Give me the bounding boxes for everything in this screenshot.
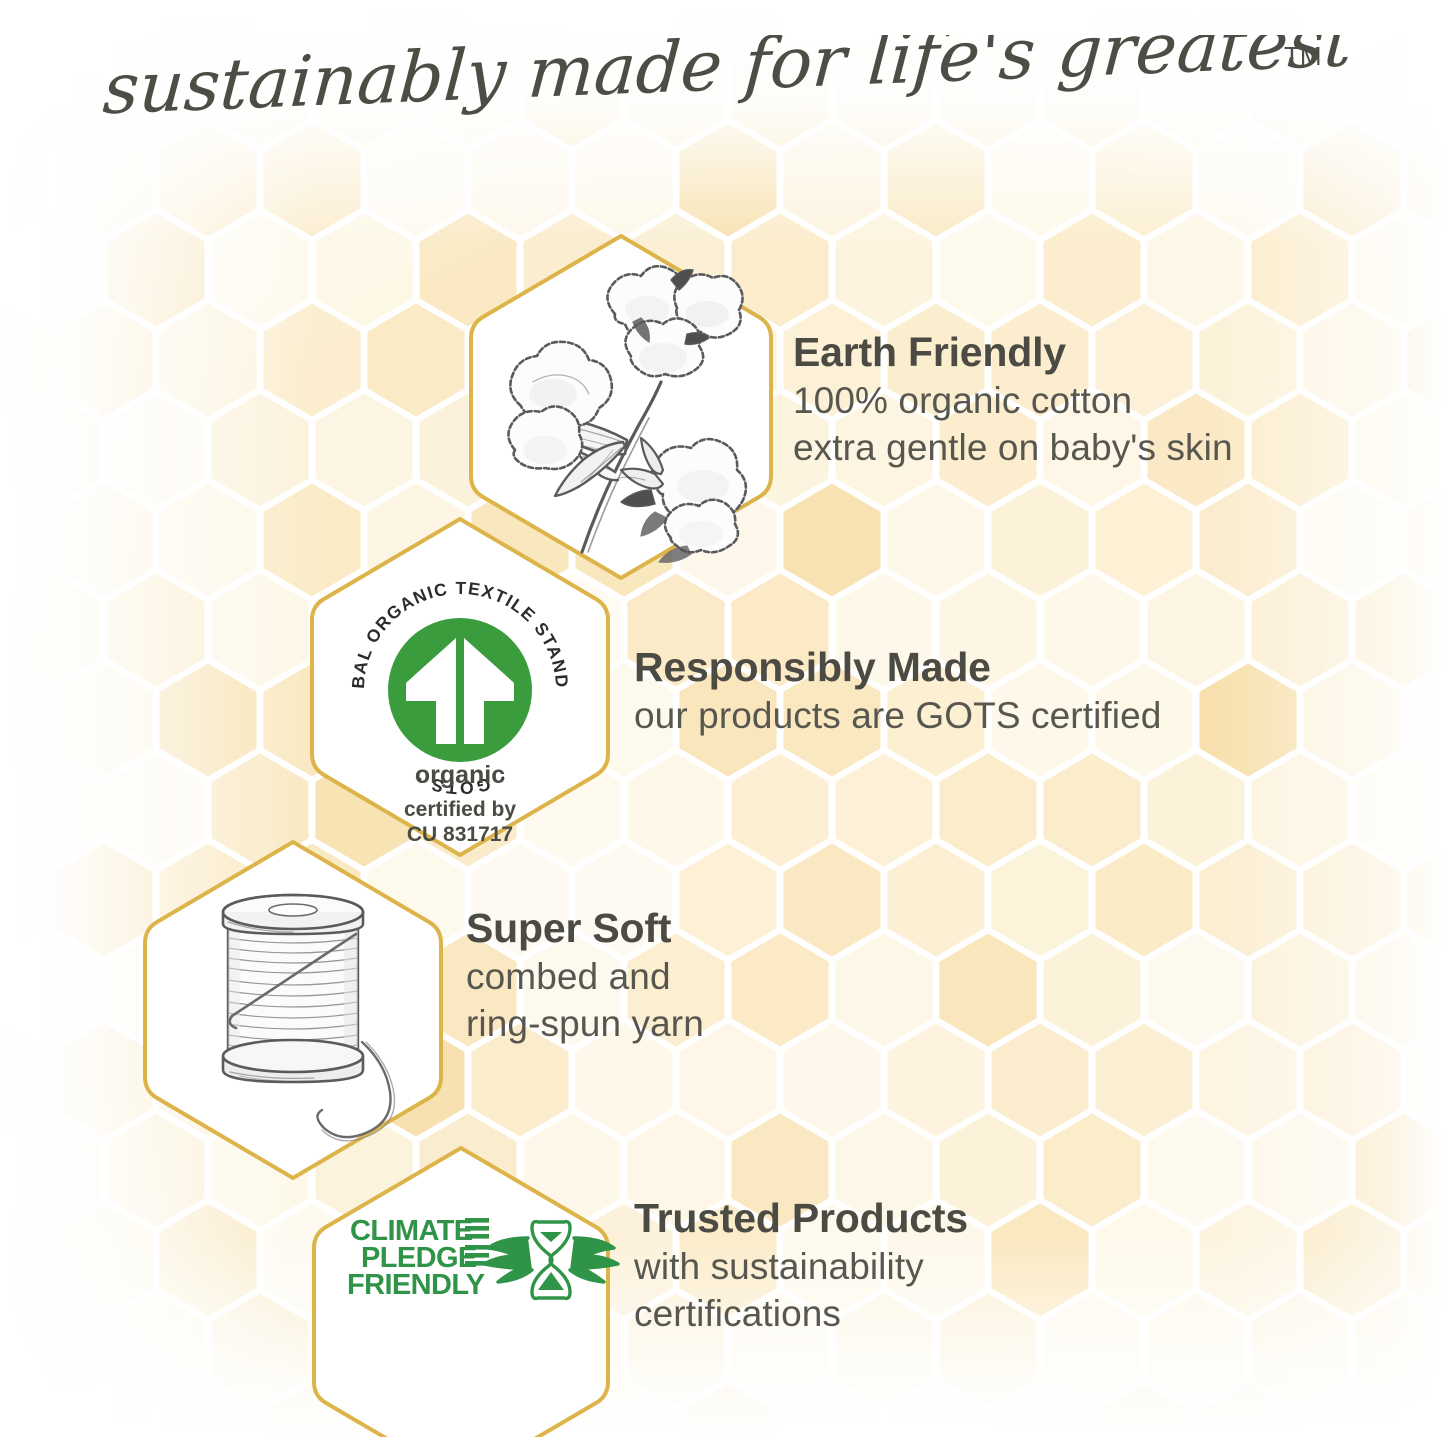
honeycomb-cell: [1356, 394, 1445, 507]
honeycomb-cell: [0, 1024, 49, 1137]
honeycomb-cell: [1200, 1024, 1297, 1137]
tagline-text: sustainably made for life's greatest joy: [100, 35, 1347, 130]
honeycomb-cell: [1252, 1114, 1349, 1227]
honeycomb-cell: [160, 664, 257, 777]
honeycomb-cell: [1252, 214, 1349, 327]
honeycomb-cell: [1200, 844, 1297, 957]
honeycomb-cell: [1252, 394, 1349, 507]
honeycomb-cell: [992, 1024, 1089, 1137]
feature-line: with sustainability: [634, 1244, 968, 1291]
honeycomb-cell: [784, 844, 881, 957]
honeycomb-cell: [1356, 754, 1445, 867]
honeycomb-cell: [1304, 664, 1401, 777]
honeycomb-cell: [1252, 574, 1349, 687]
honeycomb-cell: [1148, 214, 1245, 327]
honeycomb-cell: [784, 484, 881, 597]
honeycomb-cell: [732, 934, 829, 1047]
feature-title: Super Soft: [466, 906, 704, 952]
honeycomb-cell: [1044, 1294, 1141, 1407]
honeycomb-cell: [264, 304, 361, 417]
honeycomb-cell: [1096, 1024, 1193, 1137]
honeycomb-cell: [940, 754, 1037, 867]
honeycomb-cell: [4, 754, 101, 867]
honeycomb-cell: [784, 1024, 881, 1137]
honeycomb-cell: [1200, 1204, 1297, 1317]
feature-hexagon-responsibly-made: GLOBAL ORGANIC TEXTILE STANDARD · GOTS ·: [296, 505, 624, 869]
feature-text-super-soft: Super Soft combed and ring-spun yarn: [466, 906, 704, 1048]
honeycomb-cell: [1044, 934, 1141, 1047]
honeycomb-cell: [1304, 484, 1401, 597]
honeycomb-cell: [212, 574, 309, 687]
honeycomb-cell: [888, 484, 985, 597]
honeycomb-cell: [4, 394, 101, 507]
honeycomb-cell: [160, 1204, 257, 1317]
honeycomb-cell: [1252, 934, 1349, 1047]
honeycomb-cell: [1044, 754, 1141, 867]
honeycomb-cell: [4, 1114, 101, 1227]
feature-title: Trusted Products: [634, 1196, 968, 1242]
honeycomb-cell: [836, 214, 933, 327]
honeycomb-cell: [1148, 934, 1245, 1047]
honeycomb-cell: [56, 304, 153, 417]
honeycomb-cell: [4, 934, 101, 1047]
honeycomb-cell: [1096, 1204, 1193, 1317]
honeycomb-cell: [992, 844, 1089, 957]
honeycomb-cell: [0, 1204, 49, 1317]
feature-text-trusted-products: Trusted Products with sustainability cer…: [634, 1196, 968, 1338]
honeycomb-cell: [1356, 214, 1445, 327]
honeycomb-cell: [1304, 304, 1401, 417]
infographic-page: sustainably made for life's greatest joy…: [0, 0, 1445, 1437]
honeycomb-cell: [212, 1294, 309, 1407]
honeycomb-cell: [108, 574, 205, 687]
honeycomb-cell: [56, 664, 153, 777]
honeycomb-cell: [1148, 574, 1245, 687]
honeycomb-cell: [1356, 934, 1445, 1047]
honeycomb-cell: [4, 1294, 101, 1407]
honeycomb-cell: [1356, 574, 1445, 687]
honeycomb-cell: [368, 304, 465, 417]
feature-line: 100% organic cotton: [793, 378, 1233, 425]
feature-title: Responsibly Made: [634, 645, 1161, 691]
honeycomb-cell: [1148, 754, 1245, 867]
honeycomb-cell: [1200, 484, 1297, 597]
honeycomb-cell: [1148, 1294, 1245, 1407]
honeycomb-cell: [628, 754, 725, 867]
tagline: sustainably made for life's greatest joy…: [0, 34, 1445, 144]
honeycomb-cell: [1252, 1294, 1349, 1407]
honeycomb-cell: [1096, 484, 1193, 597]
honeycomb-cell: [56, 1204, 153, 1317]
honeycomb-cell: [992, 1204, 1089, 1317]
honeycomb-cell: [992, 484, 1089, 597]
honeycomb-cell: [1096, 844, 1193, 957]
honeycomb-cell: [4, 574, 101, 687]
honeycomb-cell: [1252, 754, 1349, 867]
honeycomb-cell: [836, 754, 933, 867]
honeycomb-cell: [1304, 1204, 1401, 1317]
honeycomb-cell: [1148, 1114, 1245, 1227]
honeycomb-cell: [1304, 844, 1401, 957]
honeycomb-cell: [212, 214, 309, 327]
tagline-trademark: TM: [1284, 41, 1322, 71]
feature-title: Earth Friendly: [793, 330, 1233, 376]
honeycomb-cell: [212, 394, 309, 507]
honeycomb-cell: [836, 934, 933, 1047]
honeycomb-cell: [0, 844, 49, 957]
honeycomb-cell: [1044, 214, 1141, 327]
feature-line: our products are GOTS certified: [634, 693, 1161, 740]
honeycomb-cell: [160, 484, 257, 597]
honeycomb-cell: [888, 844, 985, 957]
honeycomb-cell: [1356, 1294, 1445, 1407]
gots-label-organic: organic: [320, 761, 600, 790]
honeycomb-cell: [4, 214, 101, 327]
honeycomb-cell: [0, 664, 49, 777]
honeycomb-cell: [1304, 1024, 1401, 1137]
honeycomb-cell: [888, 1024, 985, 1137]
feature-text-responsibly-made: Responsibly Made our products are GOTS c…: [634, 645, 1161, 740]
feature-line: extra gentle on baby's skin: [793, 425, 1233, 472]
feature-line: certifications: [634, 1291, 968, 1338]
honeycomb-cell: [56, 484, 153, 597]
honeycomb-cell: [1044, 1114, 1141, 1227]
honeycomb-cell: [940, 934, 1037, 1047]
feature-hexagon-trusted-products: CLIMATE PLEDGE FRIENDLY: [298, 1134, 624, 1434]
honeycomb-cell: [732, 754, 829, 867]
gots-label-certified-by: certified by: [320, 798, 600, 823]
honeycomb-cell: [316, 214, 413, 327]
climate-pledge-line3: FRIENDLY: [347, 1269, 485, 1301]
feature-line: ring-spun yarn: [466, 1001, 704, 1048]
honeycomb-cell: [160, 304, 257, 417]
feature-line: combed and: [466, 954, 704, 1001]
honeycomb-cell: [0, 484, 49, 597]
honeycomb-cell: [108, 214, 205, 327]
feature-text-earth-friendly: Earth Friendly 100% organic cotton extra…: [793, 330, 1233, 472]
honeycomb-cell: [108, 394, 205, 507]
honeycomb-cell: [1200, 664, 1297, 777]
honeycomb-cell: [316, 394, 413, 507]
honeycomb-cell: [108, 1294, 205, 1407]
honeycomb-cell: [940, 214, 1037, 327]
honeycomb-cell: [0, 304, 49, 417]
honeycomb-cell: [1356, 1114, 1445, 1227]
